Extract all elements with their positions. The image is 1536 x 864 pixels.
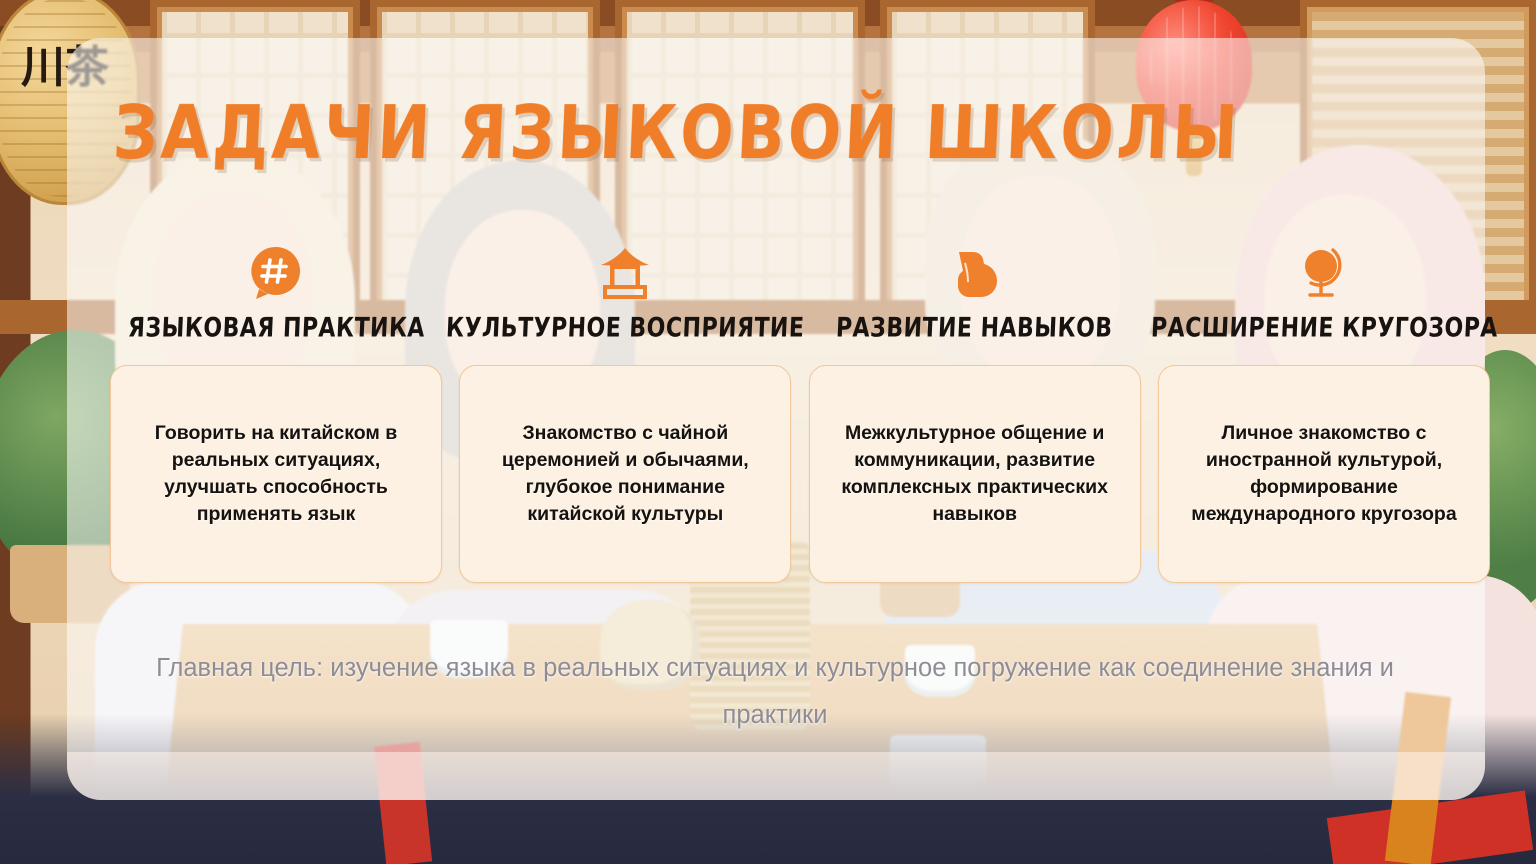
presentation-slide: 川茶: [0, 0, 1536, 864]
card-body-text: Личное знакомство с иностранной культуро…: [1177, 420, 1471, 528]
column-heading: ЯЗЫКОВАЯ ПРАКТИКА: [127, 313, 425, 344]
footer-statement: Главная цель: изучение языка в реальных …: [150, 645, 1400, 739]
column-heading: РАЗВИТИЕ НАВЫКОВ: [836, 313, 1114, 344]
card-body-text: Межкультурное общение и коммуникации, ра…: [828, 420, 1122, 528]
column-heading: РАСШИРЕНИЕ КРУГОЗОРА: [1150, 313, 1498, 344]
column-skill-development: РАЗВИТИЕ НАВЫКОВ Межкультурное общение и…: [809, 238, 1141, 588]
info-card: Межкультурное общение и коммуникации, ра…: [809, 365, 1141, 583]
column-language-practice: ЯЗЫКОВАЯ ПРАКТИКА Говорить на китайском …: [110, 238, 442, 588]
globe-stand-icon: [1297, 238, 1351, 308]
card-body-text: Говорить на китайском в реальных ситуаци…: [129, 420, 423, 528]
pagoda-icon: [597, 238, 653, 308]
column-cultural-perception: КУЛЬТУРНОЕ ВОСПРИЯТИЕ Знакомство с чайно…: [459, 238, 791, 588]
column-heading: КУЛЬТУРНОЕ ВОСПРИЯТИЕ: [446, 313, 806, 344]
columns-container: ЯЗЫКОВАЯ ПРАКТИКА Говорить на китайском …: [110, 238, 1490, 588]
speech-bubble-hash-icon: [250, 238, 302, 308]
info-card: Знакомство с чайной церемонией и обычаям…: [459, 365, 791, 583]
card-body-text: Знакомство с чайной церемонией и обычаям…: [478, 420, 772, 528]
info-card: Говорить на китайском в реальных ситуаци…: [110, 365, 442, 583]
column-horizon-expansion: РАСШИРЕНИЕ КРУГОЗОРА Личное знакомство с…: [1158, 238, 1490, 588]
flexed-bicep-icon: [949, 238, 1001, 308]
info-card: Личное знакомство с иностранной культуро…: [1158, 365, 1490, 583]
page-title: ЗАДАЧИ ЯЗЫКОВОЙ ШКОЛЫ: [111, 92, 1242, 175]
panel-footer-band: [67, 752, 1485, 800]
